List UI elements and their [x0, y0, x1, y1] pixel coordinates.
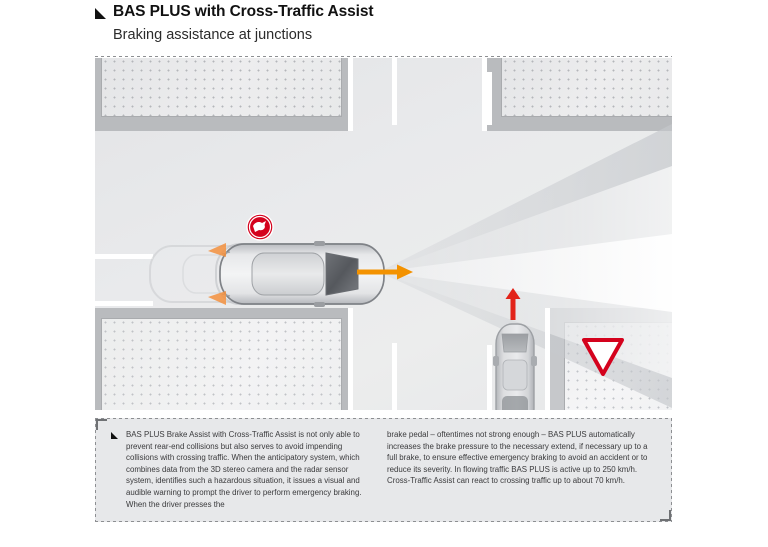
lane-marking-bottom-right: [487, 345, 492, 410]
page-title: BAS PLUS with Cross-Traffic Assist: [113, 2, 373, 22]
brake-indicator-front-bottom: [207, 290, 227, 306]
caption-corner-bottom-right: [660, 510, 671, 521]
caption-border-bottom: [95, 521, 672, 522]
lane-marking-top-right: [487, 72, 492, 125]
kerb-gap-bottom-right: [545, 308, 550, 410]
kerb-gap-bottom: [348, 308, 353, 410]
triangle-marker-icon: [111, 432, 118, 439]
plot-top-right: [487, 58, 672, 131]
caption-border-top: [95, 418, 672, 419]
triangle-marker-icon: [95, 8, 106, 19]
caption-corner-top-left: [96, 419, 107, 430]
caption-column-1: BAS PLUS Brake Assist with Cross-Traffic…: [111, 429, 373, 510]
page-subtitle: Braking assistance at junctions: [113, 25, 675, 45]
kerb-gap-top-right: [482, 58, 487, 131]
lane-marking-top-center: [392, 58, 397, 125]
illustration-top-border: [95, 56, 672, 57]
crossing-vehicle: [493, 322, 537, 410]
paving-top-right: [501, 58, 672, 117]
plot-bottom-left: [95, 308, 348, 410]
title-row: BAS PLUS with Cross-Traffic Assist: [95, 2, 675, 22]
collision-warning-icon: [246, 213, 274, 241]
crossing-direction-arrow: [505, 288, 521, 320]
paving-bottom-left: [101, 318, 342, 410]
caption-text-2: brake pedal – oftentimes not strong enou…: [387, 429, 649, 487]
description-panel: BAS PLUS Brake Assist with Cross-Traffic…: [95, 418, 672, 522]
page-header: BAS PLUS with Cross-Traffic Assist Braki…: [95, 2, 675, 45]
stop-line-left-lower: [95, 301, 153, 306]
yield-sign-icon: [581, 337, 625, 377]
kerb-gap-top: [348, 58, 353, 131]
caption-columns: BAS PLUS Brake Assist with Cross-Traffic…: [111, 429, 658, 510]
page-right-margin: [672, 0, 768, 547]
stop-line-left-upper: [95, 254, 153, 259]
page-bottom-margin: [0, 523, 768, 547]
page-left-margin: [0, 0, 95, 547]
junction-illustration: [95, 58, 672, 410]
caption-column-2: brake pedal – oftentimes not strong enou…: [387, 429, 649, 510]
caption-border-left: [95, 418, 96, 522]
ego-direction-arrow: [357, 264, 413, 280]
caption-text-1: BAS PLUS Brake Assist with Cross-Traffic…: [126, 429, 373, 510]
brake-indicator-front-top: [207, 242, 227, 258]
lane-marking-bottom-center: [392, 343, 397, 410]
plot-top-left: [95, 58, 348, 131]
paving-top-left: [101, 58, 342, 117]
